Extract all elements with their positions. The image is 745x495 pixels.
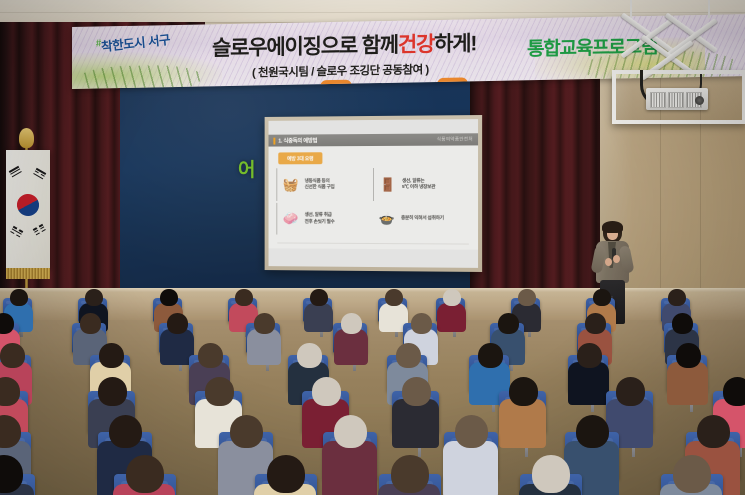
projector-lens	[695, 96, 704, 105]
audience-member-head	[334, 415, 367, 448]
slide-item-line1: 생선, 알류는	[402, 177, 424, 182]
presentation-slide: 1. 식중독의 예방법 식품의약품안전처 예방 3대 요령 🧺 냉동식품 등의 …	[269, 133, 479, 249]
slide-item-text: 생선, 알류 취급 전후 손씻기 필수	[305, 212, 335, 225]
audience-member	[336, 313, 367, 365]
audience-member-head	[577, 343, 602, 368]
fridge-icon: 🚪	[378, 174, 398, 194]
presenter-hair	[602, 221, 623, 233]
audience-member	[523, 455, 579, 495]
slide-item: 🍲 충분히 익혀서 섭취하기	[373, 203, 470, 236]
taeguk-symbol	[13, 190, 43, 220]
photo-scene: 어 #착한도시 서구 슬로우에이징으로 함께건강하게! 통합교육프로그램 ( 천…	[0, 0, 745, 495]
slide-header-accent	[273, 137, 275, 144]
slide-item-line2: 전후 손씻기 필수	[305, 219, 335, 224]
ceiling-projector	[612, 0, 745, 118]
audience-member	[447, 415, 497, 495]
slide-item: 🧼 생선, 알류 취급 전후 손씻기 필수	[276, 202, 371, 235]
audience-member	[664, 455, 720, 495]
slide-item: 🚪 생선, 알류는 5℃ 이하 냉장보관	[373, 168, 470, 201]
audience-member-head	[532, 455, 570, 493]
audience-member-torso	[568, 362, 608, 404]
slide-footer-rule	[277, 242, 469, 244]
audience-member-head	[85, 289, 102, 306]
trigram-gam	[10, 226, 24, 238]
projection-screen-frame: 1. 식중독의 예방법 식품의약품안전처 예방 3대 요령 🧺 냉동식품 등의 …	[265, 115, 483, 272]
slide-item-text: 생선, 알류는 5℃ 이하 냉장보관	[402, 177, 435, 190]
audience-member-head	[478, 343, 503, 368]
audience-member-torso	[499, 399, 546, 448]
audience-member-head	[167, 313, 188, 334]
audience-member	[502, 377, 545, 448]
audience-member-head	[672, 313, 693, 334]
audience-member	[571, 343, 608, 405]
audience-member-torso	[247, 329, 281, 365]
slide-item-line1: 충분히 익혀서 섭취하기	[401, 215, 444, 220]
slide-item-line1: 냉동식품 등의	[305, 178, 330, 183]
audience-member-head	[391, 455, 429, 493]
slide-item-line1: 생선, 알류 취급	[305, 212, 332, 217]
audience-member-torso	[304, 303, 333, 333]
audience-member-head	[723, 377, 745, 406]
slide-item-grid: 🧺 냉동식품 등의 신선한 식품 구입 🚪 생선, 알류는 5℃ 이하 냉장보관	[276, 168, 470, 236]
audience-member-head	[235, 289, 252, 306]
audience-member-head	[109, 415, 142, 448]
audience-member-head	[676, 343, 701, 368]
audience-member	[306, 289, 332, 332]
audience-member-head	[673, 455, 711, 493]
audience-member-head	[0, 313, 14, 334]
audience-member-head	[254, 313, 275, 334]
audience-member-head	[697, 415, 730, 448]
banner-headline-post: 하게!	[434, 32, 476, 56]
audience-member	[249, 313, 280, 365]
audience-member-head	[99, 343, 124, 368]
flag-finial	[19, 128, 34, 148]
audience-member-head	[498, 313, 519, 334]
audience-member	[439, 289, 465, 332]
audience-member-torso	[392, 399, 439, 448]
banner-headline-highlight: 건강	[398, 33, 434, 57]
audience-member-head	[126, 455, 164, 493]
audience-member-torso	[437, 303, 466, 333]
audience-member-head	[616, 377, 645, 406]
audience-member-head	[585, 313, 606, 334]
audience-member-torso	[667, 362, 707, 404]
audience-member-head	[98, 377, 127, 406]
audience-member	[326, 415, 376, 495]
scissor-lift	[620, 6, 726, 78]
audience-member-head	[402, 377, 431, 406]
handwash-icon: 🧼	[281, 209, 301, 229]
audience-member-head	[576, 415, 609, 448]
audience-member	[395, 377, 438, 448]
audience-member-head	[10, 289, 27, 306]
cooking-pot-icon: 🍲	[377, 209, 397, 229]
audience-member-head	[385, 289, 402, 306]
slide-item-line2: 신선한 식품 구입	[305, 184, 335, 189]
trigram-geon	[9, 166, 23, 178]
slide-item-line2: 5℃ 이하 냉장보관	[402, 184, 435, 189]
projection-screen: 1. 식중독의 예방법 식품의약품안전처 예방 3대 요령 🧺 냉동식품 등의 …	[269, 119, 479, 268]
audience-member-head	[455, 415, 488, 448]
slide-badge: 예방 3대 요령	[278, 152, 322, 164]
banner-headline-pre: 슬로우에이징으로 함께	[212, 34, 398, 61]
projector-body	[646, 88, 708, 110]
banner-subtitle: ( 천원국시팀 / 슬로우 조깅단 공동참여 )	[252, 61, 429, 80]
audience-member	[670, 343, 707, 405]
backdrop-character: 어	[238, 155, 254, 182]
audience-member-head	[341, 313, 362, 334]
slide-header: 1. 식중독의 예방법 식품의약품안전처	[269, 133, 479, 146]
audience-member	[258, 455, 314, 495]
projector-housing	[612, 70, 745, 124]
audience-member-head	[205, 377, 234, 406]
audience-member-head	[198, 343, 223, 368]
audience-member-head	[267, 455, 305, 493]
audience-member	[382, 455, 438, 495]
audience-member-torso	[322, 441, 376, 495]
trigram-ri	[33, 168, 47, 180]
audience	[0, 255, 745, 495]
audience-member-head	[230, 415, 263, 448]
audience-member-head	[160, 289, 177, 306]
audience-member	[117, 455, 173, 495]
audience-member-head	[411, 313, 432, 334]
banner-headline: 슬로우에이징으로 함께건강하게!	[212, 33, 476, 59]
banner-vine-left	[80, 65, 200, 89]
audience-member-head	[312, 377, 341, 406]
audience-member-head	[396, 343, 421, 368]
audience-member-head	[0, 343, 25, 368]
audience-member-head	[0, 377, 20, 406]
audience-member-head	[443, 289, 460, 306]
audience-member-head	[310, 289, 327, 306]
basket-icon: 🧺	[281, 174, 301, 194]
audience-member-head	[668, 289, 685, 306]
audience-member-torso	[443, 441, 497, 495]
slide-item: 🧺 냉동식품 등의 신선한 식품 구입	[276, 168, 371, 200]
audience-member-head	[593, 289, 610, 306]
slide-header-logo: 식품의약품안전처	[437, 136, 473, 142]
audience-member-torso	[334, 329, 368, 365]
audience-member	[0, 455, 32, 495]
slide-item-text: 냉동식품 등의 신선한 식품 구입	[305, 178, 335, 191]
audience-member-head	[518, 289, 535, 306]
slide-header-title: 1. 식중독의 예방법	[278, 136, 317, 144]
korean-flag	[6, 150, 50, 268]
trigram-gon	[33, 224, 47, 236]
audience-member-head	[80, 313, 101, 334]
audience-member-head	[297, 343, 322, 368]
slide-item-text: 충분히 익혀서 섭취하기	[401, 215, 444, 222]
audience-member-head	[509, 377, 538, 406]
